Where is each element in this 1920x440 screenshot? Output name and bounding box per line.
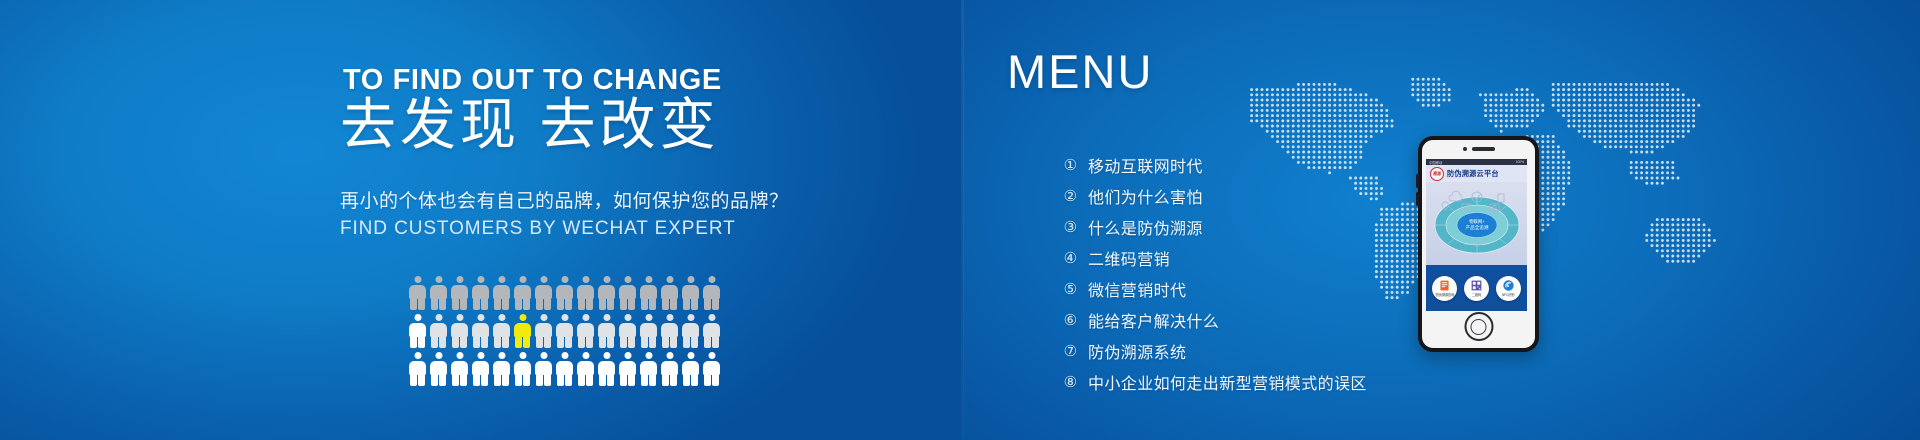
status-battery: 100% xyxy=(1516,160,1524,164)
menu-item-label: 他们为什么害怕 xyxy=(1088,184,1203,208)
person-icon xyxy=(682,276,699,310)
person-icon xyxy=(682,314,699,348)
phone-volume-up-button xyxy=(1416,174,1419,188)
phone-speaker-area xyxy=(1463,147,1495,151)
app-button-product-label: 防伪溯源查询 xyxy=(1436,292,1455,297)
person-icon xyxy=(409,352,426,386)
person-icon xyxy=(682,352,699,386)
menu-item-6[interactable]: ⑥能给客户解决什么 xyxy=(1062,304,1367,335)
phone-screen: 中国移动 100% 溯源 防伪溯源云平台 xyxy=(1426,159,1527,311)
person-icon xyxy=(661,314,678,348)
person-icon xyxy=(556,276,573,310)
person-icon-highlighted xyxy=(514,314,531,348)
person-icon xyxy=(703,314,720,348)
person-icon xyxy=(556,314,573,348)
app-logo-icon: 溯源 xyxy=(1430,167,1444,181)
menu-item-number: ③ xyxy=(1062,218,1079,236)
person-icon xyxy=(619,314,636,348)
left-panel: TO FIND OUT TO CHANGE 去发现 去改变 再小的个体也会有自己… xyxy=(0,0,963,440)
people-row xyxy=(409,314,720,348)
menu-item-2[interactable]: ②他们为什么害怕 xyxy=(1062,180,1367,211)
person-icon xyxy=(619,352,636,386)
person-icon xyxy=(598,352,615,386)
app-button-nfc[interactable]: NFC识别 xyxy=(1496,276,1521,301)
app-diagram-area: 物联网+ 产品全追溯 xyxy=(1426,182,1527,265)
subtitle-chinese: 再小的个体也会有自己的品牌，如何保护您的品牌？ xyxy=(340,186,789,213)
person-icon xyxy=(493,276,510,310)
product-icon xyxy=(1438,279,1451,292)
person-icon xyxy=(577,352,594,386)
phone-home-button[interactable] xyxy=(1464,312,1493,341)
person-icon xyxy=(514,276,531,310)
person-icon xyxy=(535,314,552,348)
people-row xyxy=(409,276,720,310)
menu-heading: MENU xyxy=(1007,44,1153,99)
person-icon xyxy=(556,352,573,386)
menu-item-number: ④ xyxy=(1062,249,1079,267)
person-icon xyxy=(577,276,594,310)
person-icon xyxy=(472,276,489,310)
phone-earpiece-icon xyxy=(1472,147,1495,151)
person-icon xyxy=(619,276,636,310)
app-button-nfc-label: NFC识别 xyxy=(1502,292,1514,297)
person-icon xyxy=(577,314,594,348)
phone-camera-icon xyxy=(1463,147,1467,151)
menu-item-4[interactable]: ④二维码营销 xyxy=(1062,242,1367,273)
diagram-center-line1: 物联网+ xyxy=(1469,218,1485,225)
menu-item-number: ⑦ xyxy=(1062,342,1079,360)
person-icon xyxy=(703,352,720,386)
person-icon xyxy=(661,352,678,386)
person-icon xyxy=(598,314,615,348)
slide-canvas: TO FIND OUT TO CHANGE 去发现 去改变 再小的个体也会有自己… xyxy=(0,0,1920,440)
person-icon xyxy=(493,352,510,386)
menu-item-label: 移动互联网时代 xyxy=(1088,153,1203,177)
menu-item-number: ⑥ xyxy=(1062,311,1079,329)
person-icon xyxy=(640,314,657,348)
people-infographic xyxy=(409,276,720,386)
menu-item-5[interactable]: ⑤微信营销时代 xyxy=(1062,273,1367,304)
menu-list: ①移动互联网时代②他们为什么害怕③什么是防伪溯源④二维码营销⑤微信营销时代⑥能给… xyxy=(1062,149,1367,397)
person-icon xyxy=(430,352,447,386)
phone-mockup: 中国移动 100% 溯源 防伪溯源云平台 xyxy=(1418,136,1539,352)
person-icon xyxy=(640,352,657,386)
person-icon xyxy=(703,276,720,310)
menu-item-label: 二维码营销 xyxy=(1088,246,1170,270)
person-icon xyxy=(535,352,552,386)
person-icon xyxy=(493,314,510,348)
phone-volume-down-button xyxy=(1416,192,1419,206)
app-action-buttons: 防伪溯源查询 二维码 xyxy=(1426,265,1527,311)
person-icon xyxy=(430,314,447,348)
status-carrier: 中国移动 xyxy=(1429,160,1442,165)
person-icon xyxy=(409,276,426,310)
app-button-qrcode[interactable]: 二维码 xyxy=(1464,276,1489,301)
nfc-icon xyxy=(1502,279,1515,292)
subtitle-english: FIND CUSTOMERS BY WECHAT EXPERT xyxy=(340,218,736,240)
people-row xyxy=(409,352,720,386)
person-icon xyxy=(514,352,531,386)
diagram-center-line2: 产品全追溯 xyxy=(1465,224,1488,231)
person-icon xyxy=(451,352,468,386)
menu-item-8[interactable]: ⑧中小企业如何走出新型营销模式的误区 xyxy=(1062,366,1367,397)
headline-text: 去发现 去改变 xyxy=(340,97,720,153)
menu-item-number: ① xyxy=(1062,156,1079,174)
person-icon xyxy=(409,314,426,348)
menu-item-number: ② xyxy=(1062,187,1079,205)
menu-item-label: 中小企业如何走出新型营销模式的误区 xyxy=(1088,370,1367,394)
person-icon xyxy=(535,276,552,310)
menu-item-label: 什么是防伪溯源 xyxy=(1088,215,1203,239)
menu-item-number: ⑧ xyxy=(1062,373,1079,391)
menu-item-number: ⑤ xyxy=(1062,280,1079,298)
app-header: 溯源 防伪溯源云平台 xyxy=(1426,165,1527,182)
menu-item-label: 能给客户解决什么 xyxy=(1088,308,1219,332)
person-icon xyxy=(451,314,468,348)
person-icon xyxy=(640,276,657,310)
person-icon xyxy=(472,352,489,386)
person-icon xyxy=(598,276,615,310)
menu-item-label: 微信营销时代 xyxy=(1088,277,1186,301)
qrcode-icon xyxy=(1470,279,1483,292)
app-button-product[interactable]: 防伪溯源查询 xyxy=(1432,276,1457,301)
person-icon xyxy=(451,276,468,310)
person-icon xyxy=(472,314,489,348)
menu-item-1[interactable]: ①移动互联网时代 xyxy=(1062,149,1367,180)
cloud-device-icons xyxy=(1432,187,1522,213)
person-icon xyxy=(661,276,678,310)
app-title: 防伪溯源云平台 xyxy=(1447,169,1499,179)
menu-item-7[interactable]: ⑦防伪溯源系统 xyxy=(1062,335,1367,366)
menu-item-3[interactable]: ③什么是防伪溯源 xyxy=(1062,211,1367,242)
app-button-qrcode-label: 二维码 xyxy=(1472,292,1481,297)
person-icon xyxy=(430,276,447,310)
menu-item-label: 防伪溯源系统 xyxy=(1088,339,1186,363)
